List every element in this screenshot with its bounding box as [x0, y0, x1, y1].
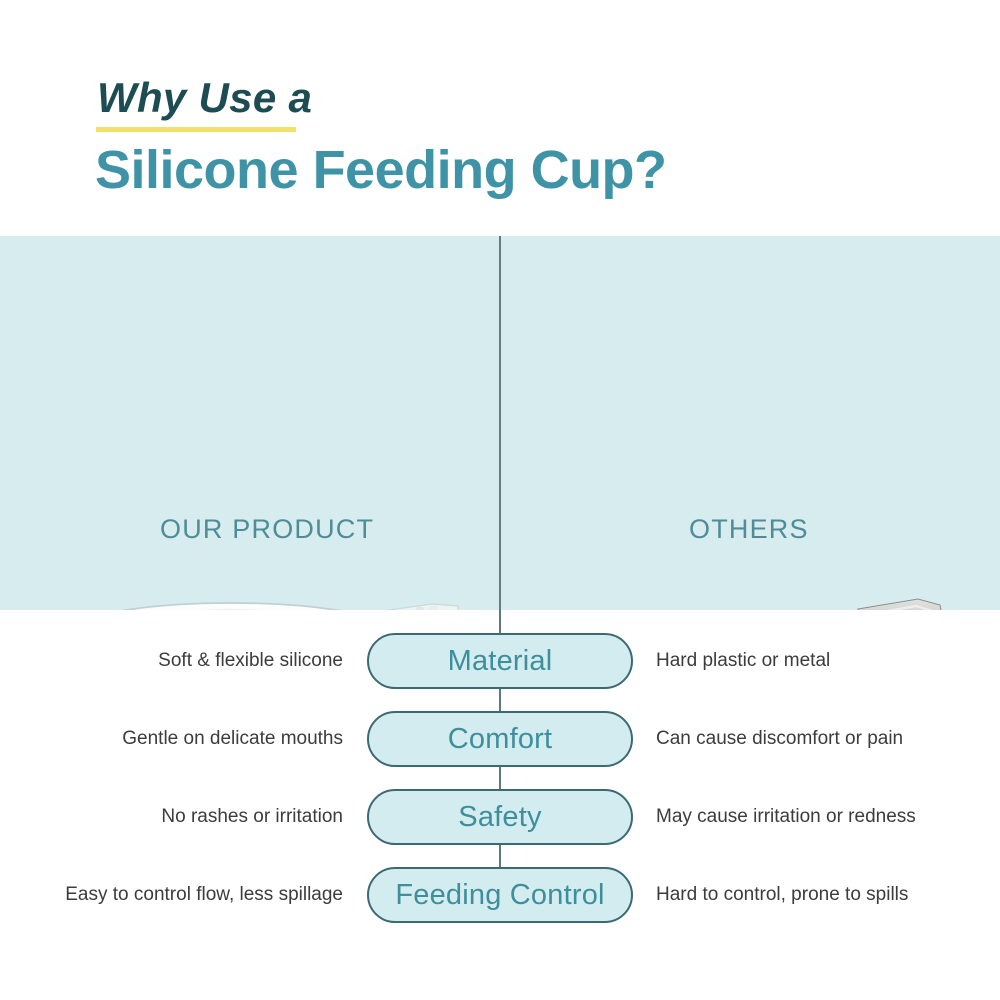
connector-line-2 — [499, 767, 501, 789]
row-ours-text: No rashes or irritation — [30, 789, 343, 845]
title-eyebrow: Why Use a — [97, 74, 312, 122]
table-row: Soft & flexible silicone Material Hard p… — [0, 633, 1000, 689]
feature-pill-safety[interactable]: Safety — [367, 789, 633, 845]
row-others-text: Can cause discomfort or pain — [656, 711, 986, 767]
connector-line-1 — [499, 689, 501, 711]
row-ours-text: Easy to control flow, less spillage — [30, 867, 343, 923]
comparison-section: Soft & flexible silicone Material Hard p… — [0, 610, 1000, 1000]
title-underline-rule — [96, 127, 296, 132]
row-ours-text: Gentle on delicate mouths — [30, 711, 343, 767]
feature-label: Safety — [458, 801, 541, 834]
connector-line-3 — [499, 845, 501, 867]
row-ours-text: Soft & flexible silicone — [30, 633, 343, 689]
feature-label: Feeding Control — [395, 879, 604, 912]
our-product-label: OUR PRODUCT — [160, 514, 374, 545]
others-label: OTHERS — [689, 514, 809, 545]
row-others-text: Hard plastic or metal — [656, 633, 986, 689]
feature-pill-comfort[interactable]: Comfort — [367, 711, 633, 767]
feature-label: Material — [448, 645, 553, 678]
feature-pill-material[interactable]: Material — [367, 633, 633, 689]
row-others-text: Hard to control, prone to spills — [656, 867, 986, 923]
row-others-text: May cause irritation or redness — [656, 789, 986, 845]
table-row: Easy to control flow, less spillage Feed… — [0, 867, 1000, 923]
table-row: Gentle on delicate mouths Comfort Can ca… — [0, 711, 1000, 767]
column-divider — [499, 236, 501, 610]
infographic-page: Why Use a Silicone Feeding Cup? — [0, 0, 1000, 1000]
table-row: No rashes or irritation Safety May cause… — [0, 789, 1000, 845]
feature-pill-feeding-control[interactable]: Feeding Control — [367, 867, 633, 923]
feature-label: Comfort — [448, 723, 553, 756]
page-title: Silicone Feeding Cup? — [95, 139, 667, 201]
connector-line-top — [499, 610, 501, 633]
header-section: Why Use a Silicone Feeding Cup? — [0, 0, 1000, 236]
